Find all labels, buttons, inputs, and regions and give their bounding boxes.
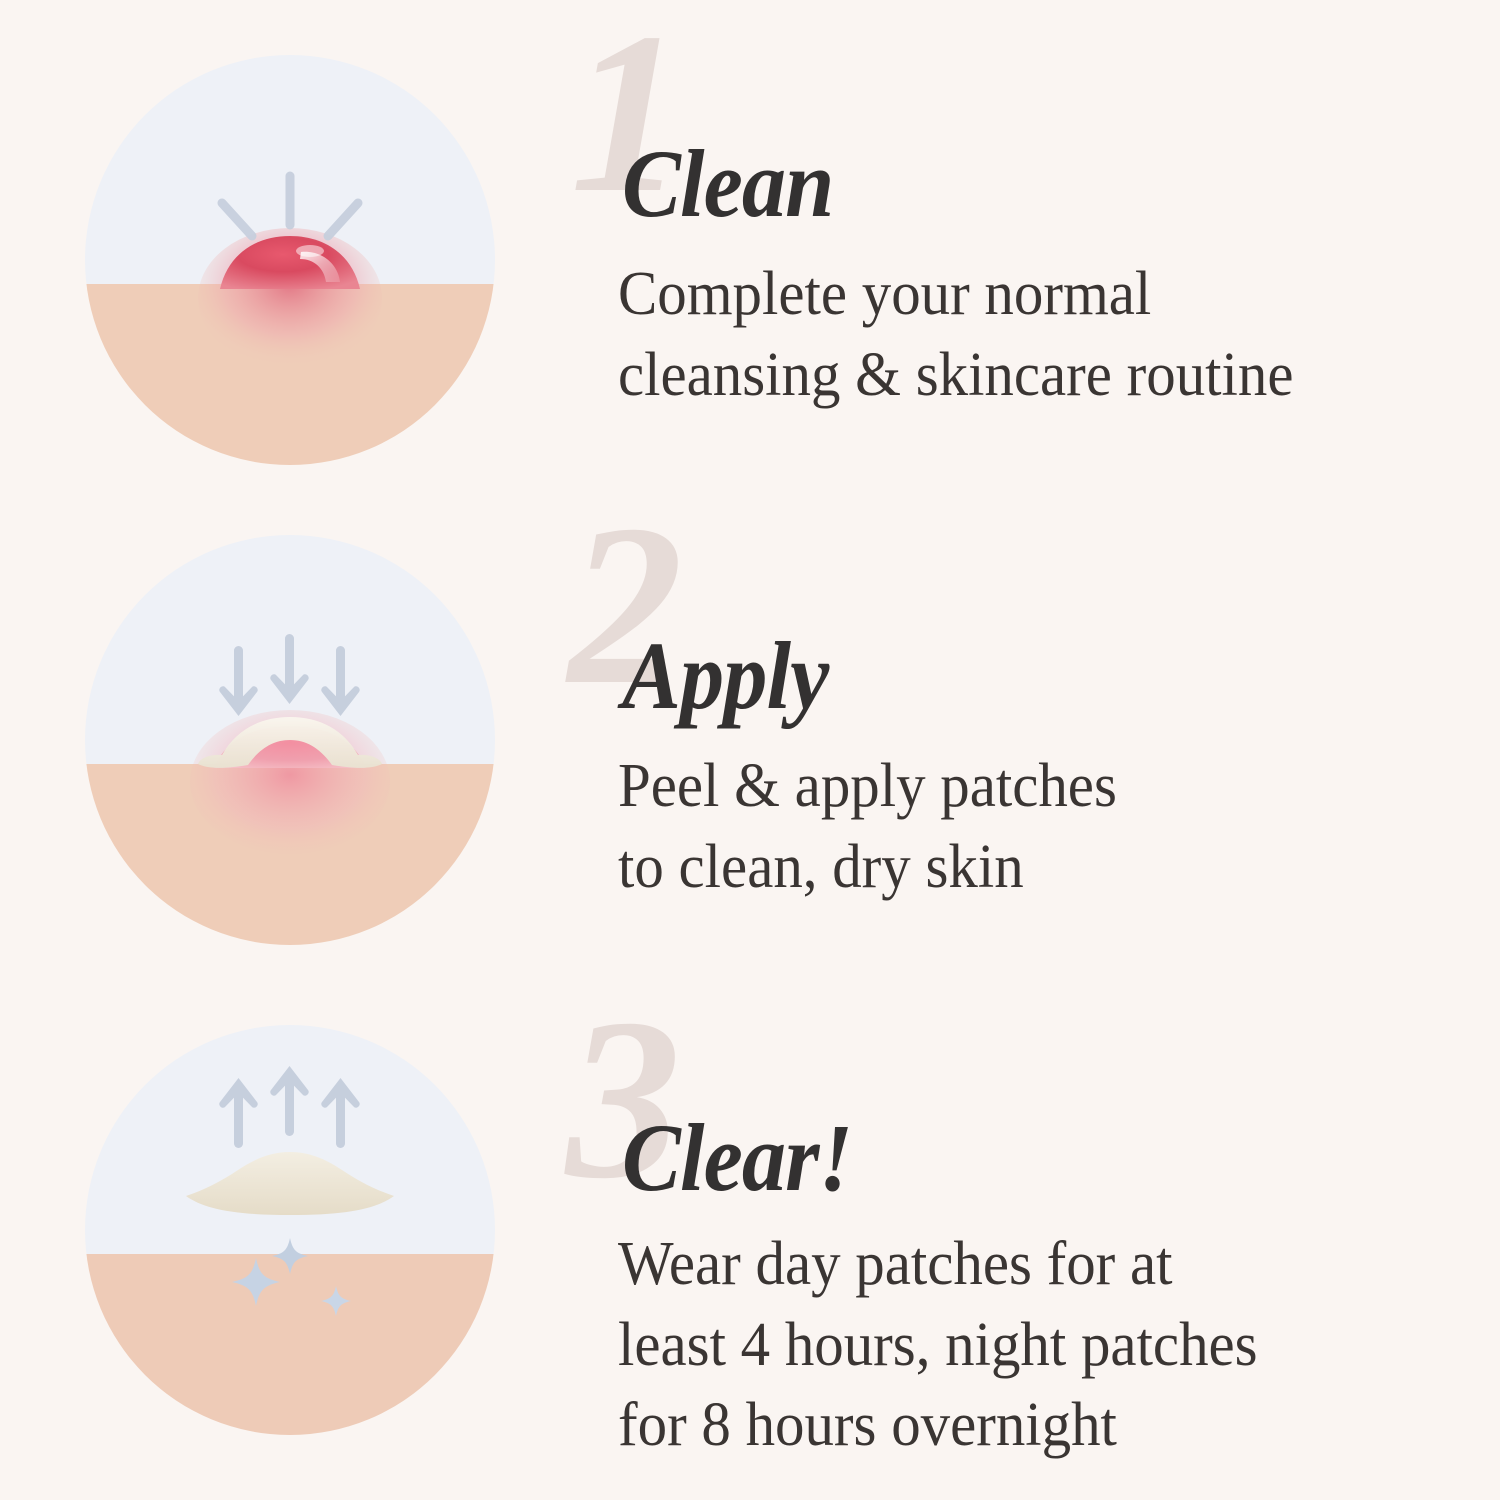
step-body-clean: Complete your normal cleansing & skincar…	[618, 254, 1454, 415]
step-row-3: 3 Clear! Wear day patches for at least 4…	[0, 1010, 1500, 1470]
step-text-apply: 2 Apply Peel & apply patches to clean, d…	[570, 520, 1500, 907]
step-body-line: least 4 hours, night patches	[618, 1305, 1454, 1386]
step-body-apply: Peel & apply patches to clean, dry skin	[618, 746, 1454, 907]
step-row-1: 1 Clean Complete your normal cleansing &…	[0, 40, 1500, 500]
step-body-line: Wear day patches for at	[618, 1224, 1454, 1305]
step-body-line: cleansing & skincare routine	[618, 335, 1454, 416]
step-body-line: Peel & apply patches	[618, 746, 1454, 827]
step-title-clean: Clean	[622, 58, 1430, 232]
step-body-line: for 8 hours overnight	[618, 1385, 1454, 1466]
how-to-use-infographic: 1 Clean Complete your normal cleansing &…	[0, 0, 1500, 1500]
skin-background	[70, 1254, 510, 1450]
illustration-apply	[70, 520, 510, 960]
pimple-highlight-dot	[296, 245, 324, 257]
step-text-clear: 3 Clear! Wear day patches for at least 4…	[570, 1010, 1500, 1466]
step-body-line: to clean, dry skin	[618, 827, 1454, 908]
step-body-line: Complete your normal	[618, 254, 1454, 335]
step-row-2: 2 Apply Peel & apply patches to clean, d…	[0, 520, 1500, 980]
step-body-clear: Wear day patches for at least 4 hours, n…	[618, 1224, 1454, 1466]
step-title-clear: Clear!	[622, 1028, 1430, 1206]
illustration-clean	[70, 40, 510, 480]
illustration-clear	[70, 1010, 510, 1450]
step-title-apply: Apply	[622, 538, 1430, 724]
step-text-clean: 1 Clean Complete your normal cleansing &…	[570, 40, 1500, 415]
